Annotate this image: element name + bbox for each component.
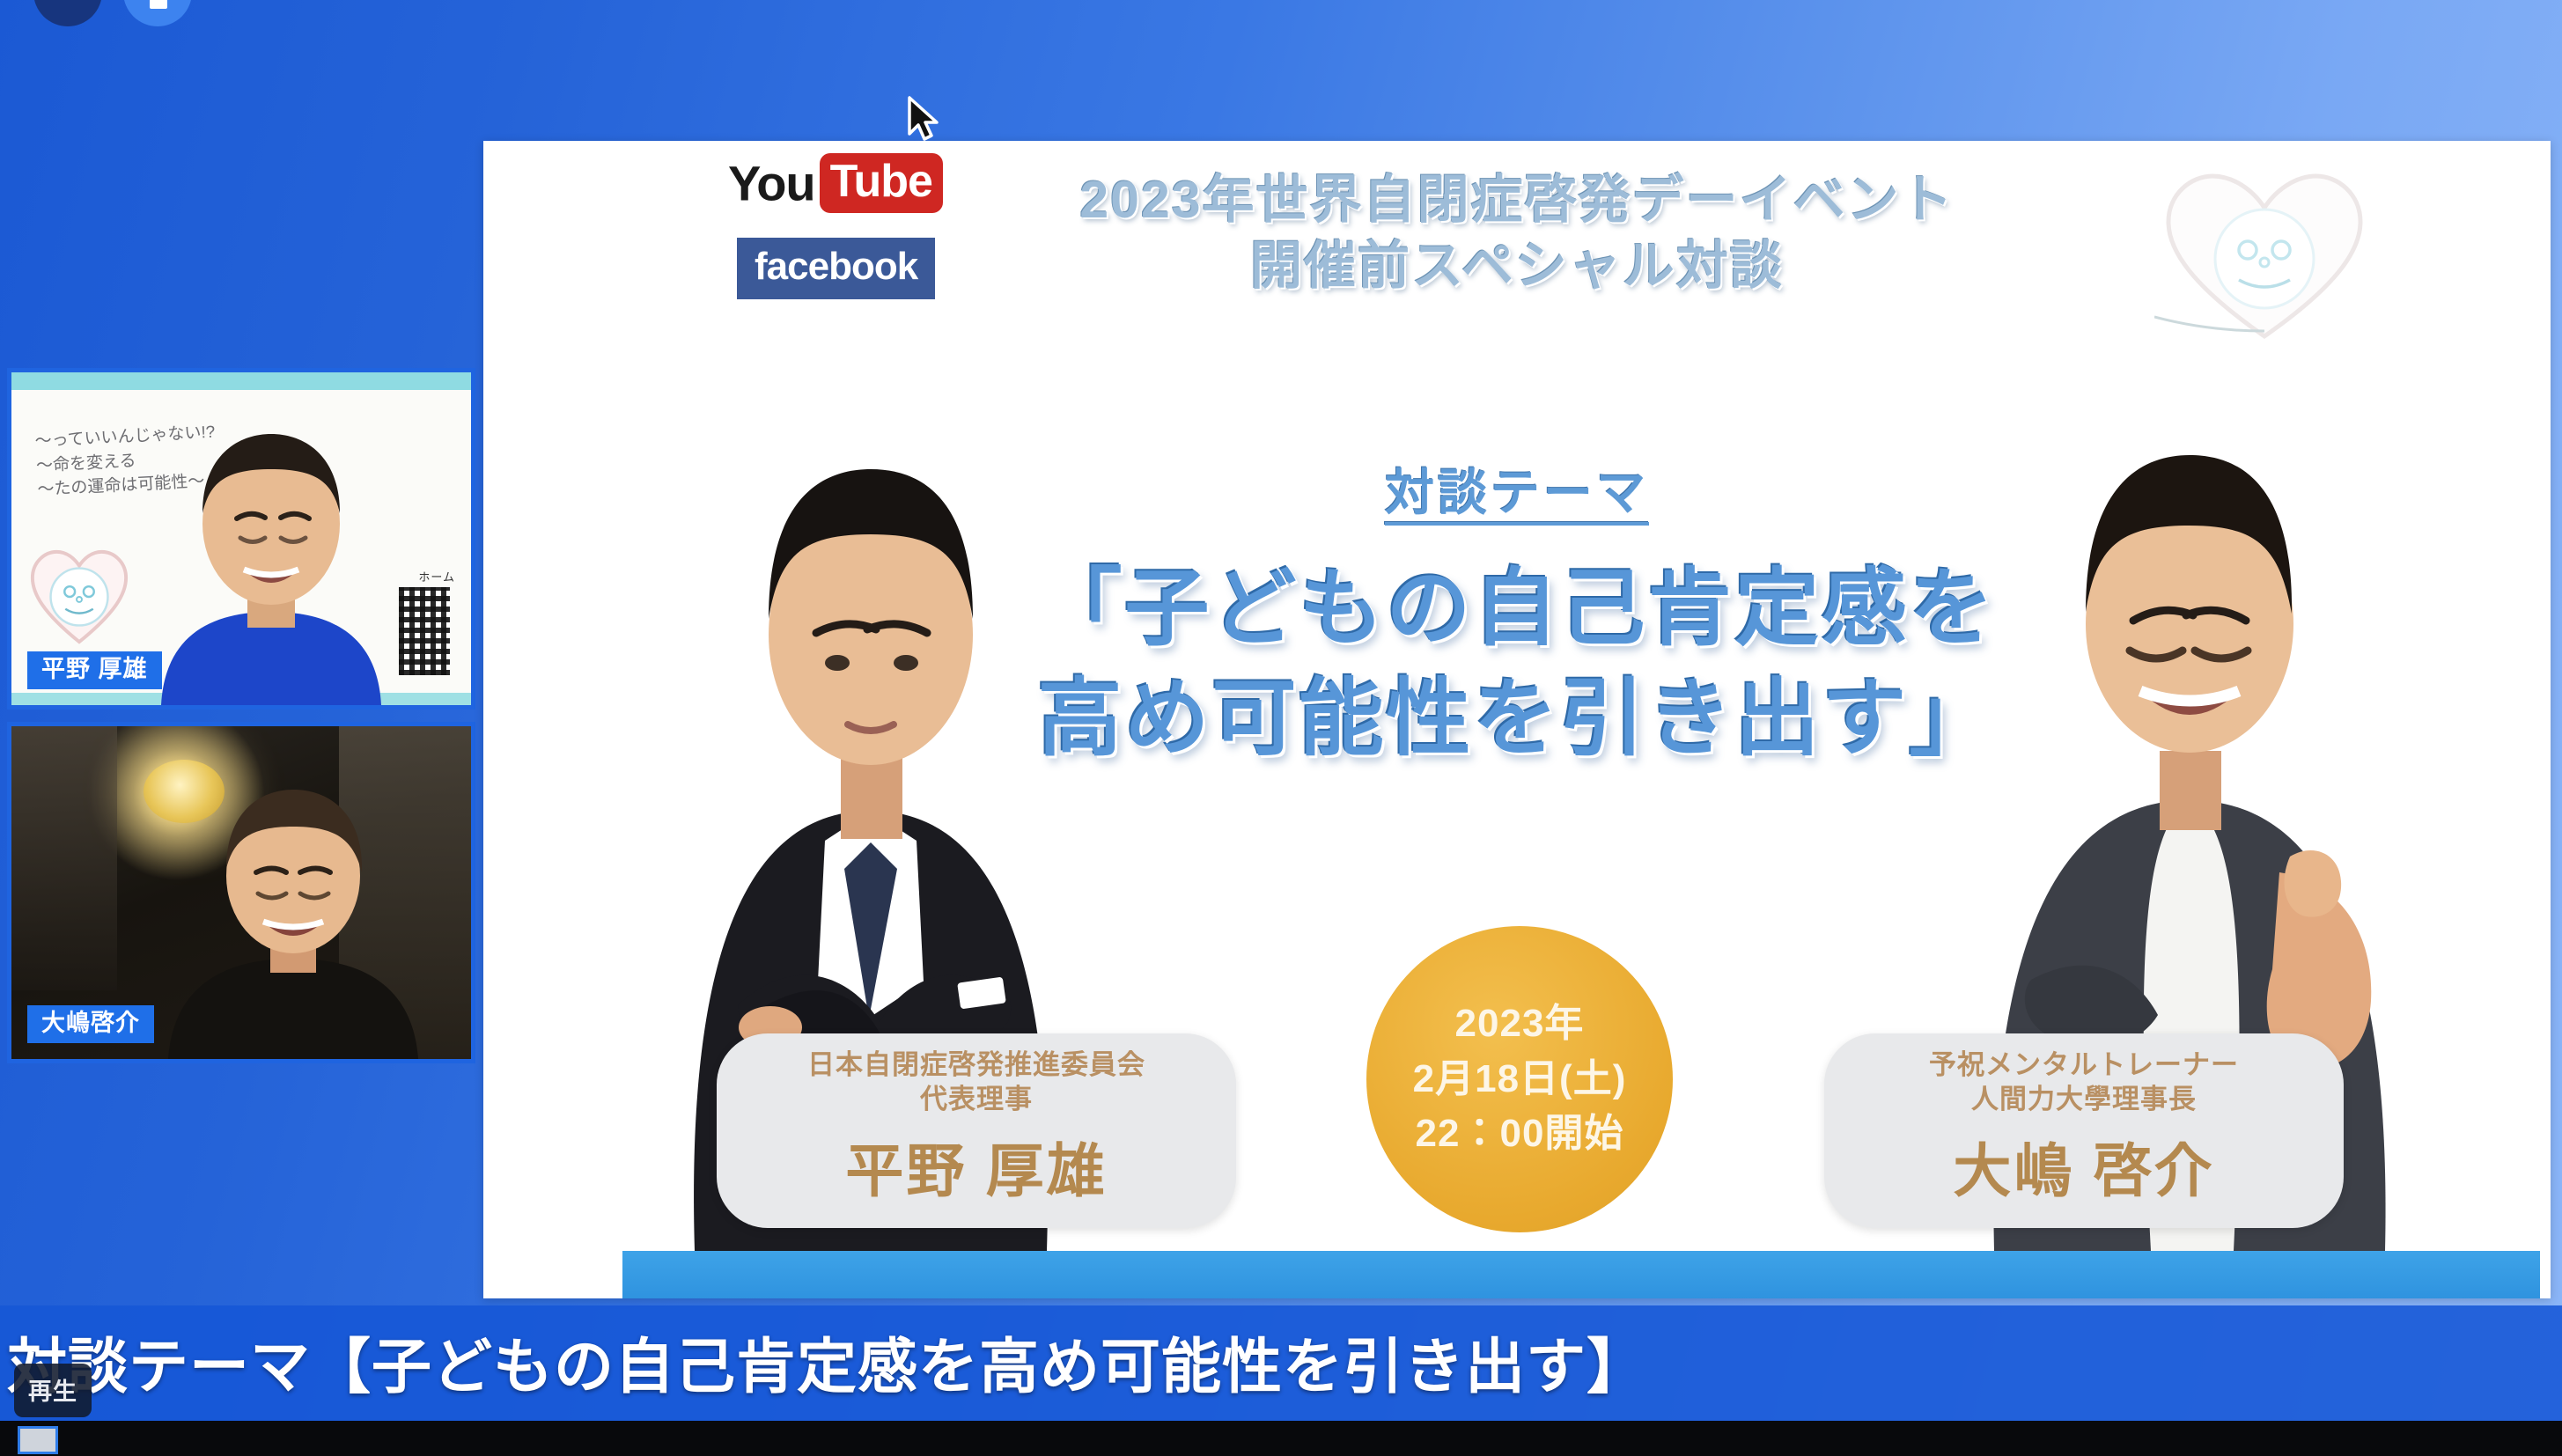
participant-tile-hirano[interactable]: 〜っていいんじゃない!? 〜命を変える 〜たの運命は可能性〜 ホーム — [7, 368, 475, 710]
participant-tile-oshima[interactable]: 大嶋啓介 — [7, 722, 475, 1063]
nameplate-org-line-2: 代表理事 — [717, 1082, 1236, 1117]
participant-name-label: 大嶋啓介 — [27, 1005, 154, 1043]
nameplate-org-line-1: 日本自閉症啓発推進委員会 — [717, 1048, 1236, 1083]
date-time: 22：00開始 — [1416, 1107, 1624, 1161]
qr-code-icon — [399, 587, 450, 675]
youtube-you-text: You — [728, 156, 815, 211]
toolbar-circle-dark-icon[interactable] — [33, 0, 102, 26]
participant-video-hirano — [152, 415, 390, 705]
event-date-badge: 2023年 2月18日(土) 22：00開始 — [1366, 926, 1673, 1232]
youtube-tube-text: Tube — [820, 153, 943, 213]
youtube-logo-icon: YouTube — [728, 153, 943, 213]
nameplate-oshima: 予祝メンタルトレーナー 人間力大學理事長 大嶋 啓介 — [1824, 1033, 2344, 1228]
mouse-cursor-icon — [905, 95, 944, 148]
window-left — [11, 726, 117, 990]
heart-smiley-icon — [27, 545, 131, 649]
nameplate-name: 平野 厚雄 — [717, 1124, 1236, 1209]
toolbar-circle-glyph-icon — [150, 0, 167, 9]
nameplate-org-line-2: 人間力大學理事長 — [1824, 1082, 2344, 1117]
screen-share-icon[interactable] — [18, 1426, 58, 1454]
participant-thumbnail-strip: 〜っていいんじゃない!? 〜命を変える 〜たの運命は可能性〜 ホーム — [7, 368, 482, 1076]
nameplate-hirano: 日本自閉症啓発推進委員会 代表理事 平野 厚雄 — [717, 1033, 1236, 1228]
shared-screen-slide[interactable]: YouTube facebook 2023年世界自閉症啓発デーイベント 開催前ス… — [483, 141, 2551, 1298]
video-conference-window: 〜っていいんじゃない!? 〜命を変える 〜たの運命は可能性〜 ホーム — [0, 0, 2562, 1456]
live-caption-bar: 対談テーマ【子どもの自己肯定感を高め可能性を引き出す】 — [0, 1305, 2562, 1421]
thumb-top-band — [11, 372, 471, 390]
participant-name-label: 平野 厚雄 — [27, 651, 162, 689]
play-tooltip[interactable]: 再生 — [14, 1364, 92, 1417]
date-day: 2月18日(土) — [1413, 1052, 1627, 1107]
nameplate-org-line-1: 予祝メンタルトレーナー — [1824, 1048, 2344, 1083]
caption-text: 対談テーマ【子どもの自己肯定感を高め可能性を引き出す】 — [0, 1318, 2562, 1405]
nameplate-name: 大嶋 啓介 — [1824, 1124, 2344, 1209]
event-title-line-1: 2023年世界自閉症啓発デーイベント — [1079, 171, 1954, 229]
slide-accent-bar — [622, 1251, 2540, 1298]
qr-label: ホーム — [418, 568, 455, 585]
participant-video-oshima — [161, 777, 425, 1059]
bottom-toolbar — [0, 1421, 2562, 1456]
date-year: 2023年 — [1455, 996, 1585, 1051]
